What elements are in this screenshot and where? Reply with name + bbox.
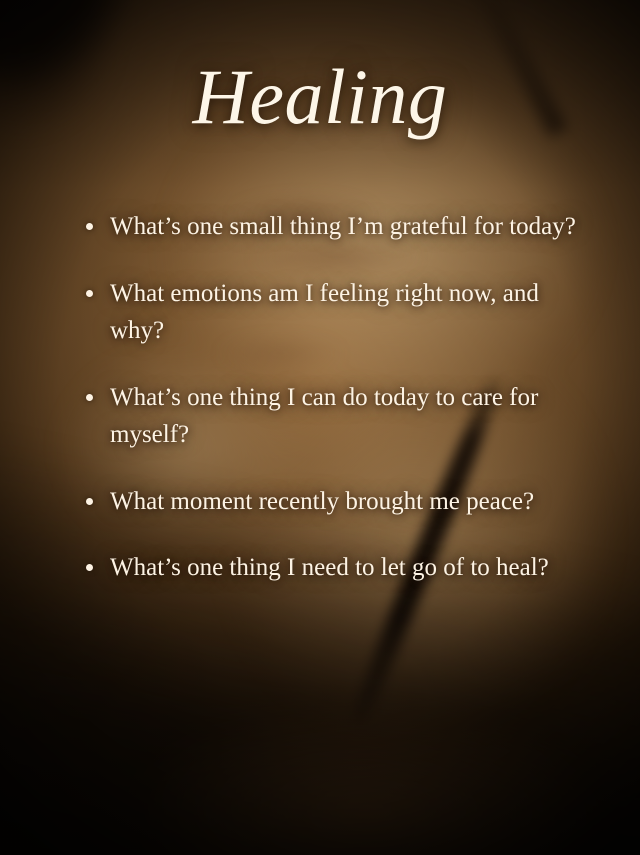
list-item-label: What moment recently brought me peace? xyxy=(110,488,534,515)
list-item-label: What’s one thing I can do today to care … xyxy=(110,384,538,449)
list-item-label: What emotions am I feeling right now, an… xyxy=(110,280,539,345)
slide-canvas: Healing What’s one small thing I’m grate… xyxy=(0,0,640,855)
bullet-dot-icon xyxy=(86,498,93,505)
bullet-dot-icon xyxy=(86,394,93,401)
list-item: What’s one thing I need to let go of to … xyxy=(78,549,598,587)
bullet-dot-icon xyxy=(86,564,93,571)
page-title: Healing xyxy=(0,58,640,136)
prompt-question-list: What’s one small thing I’m grateful for … xyxy=(78,208,598,587)
bullet-dot-icon xyxy=(86,290,93,297)
list-item-label: What’s one thing I need to let go of to … xyxy=(110,554,549,581)
list-item-label: What’s one small thing I’m grateful for … xyxy=(110,213,576,240)
list-item: What moment recently brought me peace? xyxy=(78,483,598,521)
slide-content: Healing What’s one small thing I’m grate… xyxy=(0,0,640,855)
bullet-dot-icon xyxy=(86,223,93,230)
list-item: What’s one thing I can do today to care … xyxy=(78,379,598,454)
list-item: What’s one small thing I’m grateful for … xyxy=(78,208,598,246)
list-item: What emotions am I feeling right now, an… xyxy=(78,275,598,350)
